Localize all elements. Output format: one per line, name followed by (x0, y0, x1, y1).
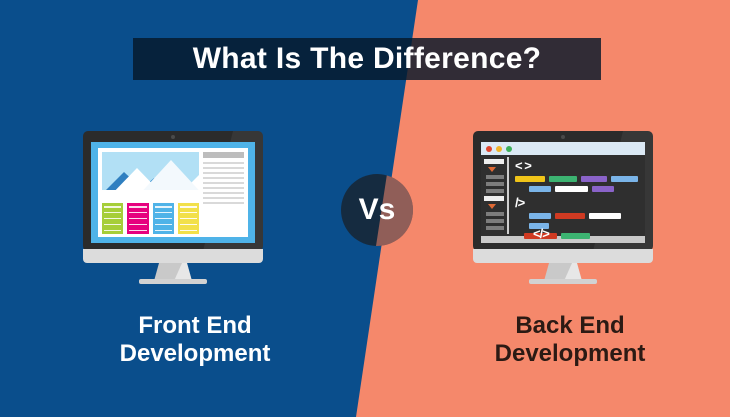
page-title: What Is The Difference? (193, 44, 542, 74)
front-end-caption: Front End Development (45, 312, 345, 369)
code-editor-mockup: < > (481, 142, 645, 243)
code-line (515, 176, 640, 182)
front-end-caption-line2: Development (45, 340, 345, 368)
folder-triangle-icon (488, 204, 496, 209)
website-mockup (91, 142, 255, 243)
sidebar-file-item (486, 175, 504, 179)
vs-label-wrapper: Vs (341, 174, 413, 246)
webcam-icon (171, 135, 175, 139)
sidebar-file-item (486, 226, 504, 230)
folder-triangle-icon (488, 167, 496, 172)
monitor-screen: < > (481, 142, 645, 243)
vs-label: Vs (359, 195, 396, 225)
front-end-monitor-illustration (83, 131, 263, 283)
card-pink (127, 203, 148, 234)
sidebar-file-item (486, 182, 504, 186)
code-line: /> (515, 196, 640, 209)
website-page (98, 148, 248, 237)
editor-code-area: < > (509, 155, 645, 236)
website-card-row (102, 203, 199, 234)
monitor-screen (91, 142, 255, 243)
code-line (515, 213, 640, 219)
website-main-column (98, 148, 203, 237)
monitor-body (83, 131, 263, 251)
infographic-canvas: What Is The Difference? (0, 0, 730, 417)
card-green (102, 203, 123, 234)
close-dot-icon (486, 146, 492, 152)
code-slash-tag-glyph: /> (515, 196, 524, 209)
code-open-tag-glyph: < > (515, 159, 531, 172)
card-blue (153, 203, 174, 234)
sidebar-file-item (486, 189, 504, 193)
sidebar-group-header (484, 196, 504, 201)
maximize-dot-icon (506, 146, 512, 152)
back-end-caption-line2: Development (420, 340, 720, 368)
code-close-tag-glyph: </> (533, 226, 549, 241)
front-end-caption-line1: Front End (45, 312, 345, 340)
website-sidebar (203, 148, 248, 237)
sidebar-file-item (486, 219, 504, 223)
editor-titlebar (481, 142, 645, 155)
snow-field (102, 190, 199, 198)
monitor-chin (473, 249, 653, 263)
monitor-body: < > (473, 131, 653, 251)
monitor-stand-base (529, 279, 597, 284)
code-line: < > (515, 159, 640, 172)
back-end-monitor-illustration: < > (473, 131, 653, 283)
monitor-chin (83, 249, 263, 263)
webcam-icon (561, 135, 565, 139)
editor-body: < > (481, 155, 645, 236)
sidebar-group-header (484, 159, 504, 164)
sidebar-heading-bar (203, 152, 244, 158)
code-line (515, 186, 640, 192)
back-end-caption-line1: Back End (420, 312, 720, 340)
monitor-stand-base (139, 279, 207, 284)
editor-file-sidebar (481, 155, 507, 236)
sidebar-file-item (486, 212, 504, 216)
back-end-caption: Back End Development (420, 312, 720, 369)
card-yellow (178, 203, 199, 234)
hero-mountain-image (102, 152, 199, 198)
title-banner: What Is The Difference? (133, 38, 601, 80)
minimize-dot-icon (496, 146, 502, 152)
